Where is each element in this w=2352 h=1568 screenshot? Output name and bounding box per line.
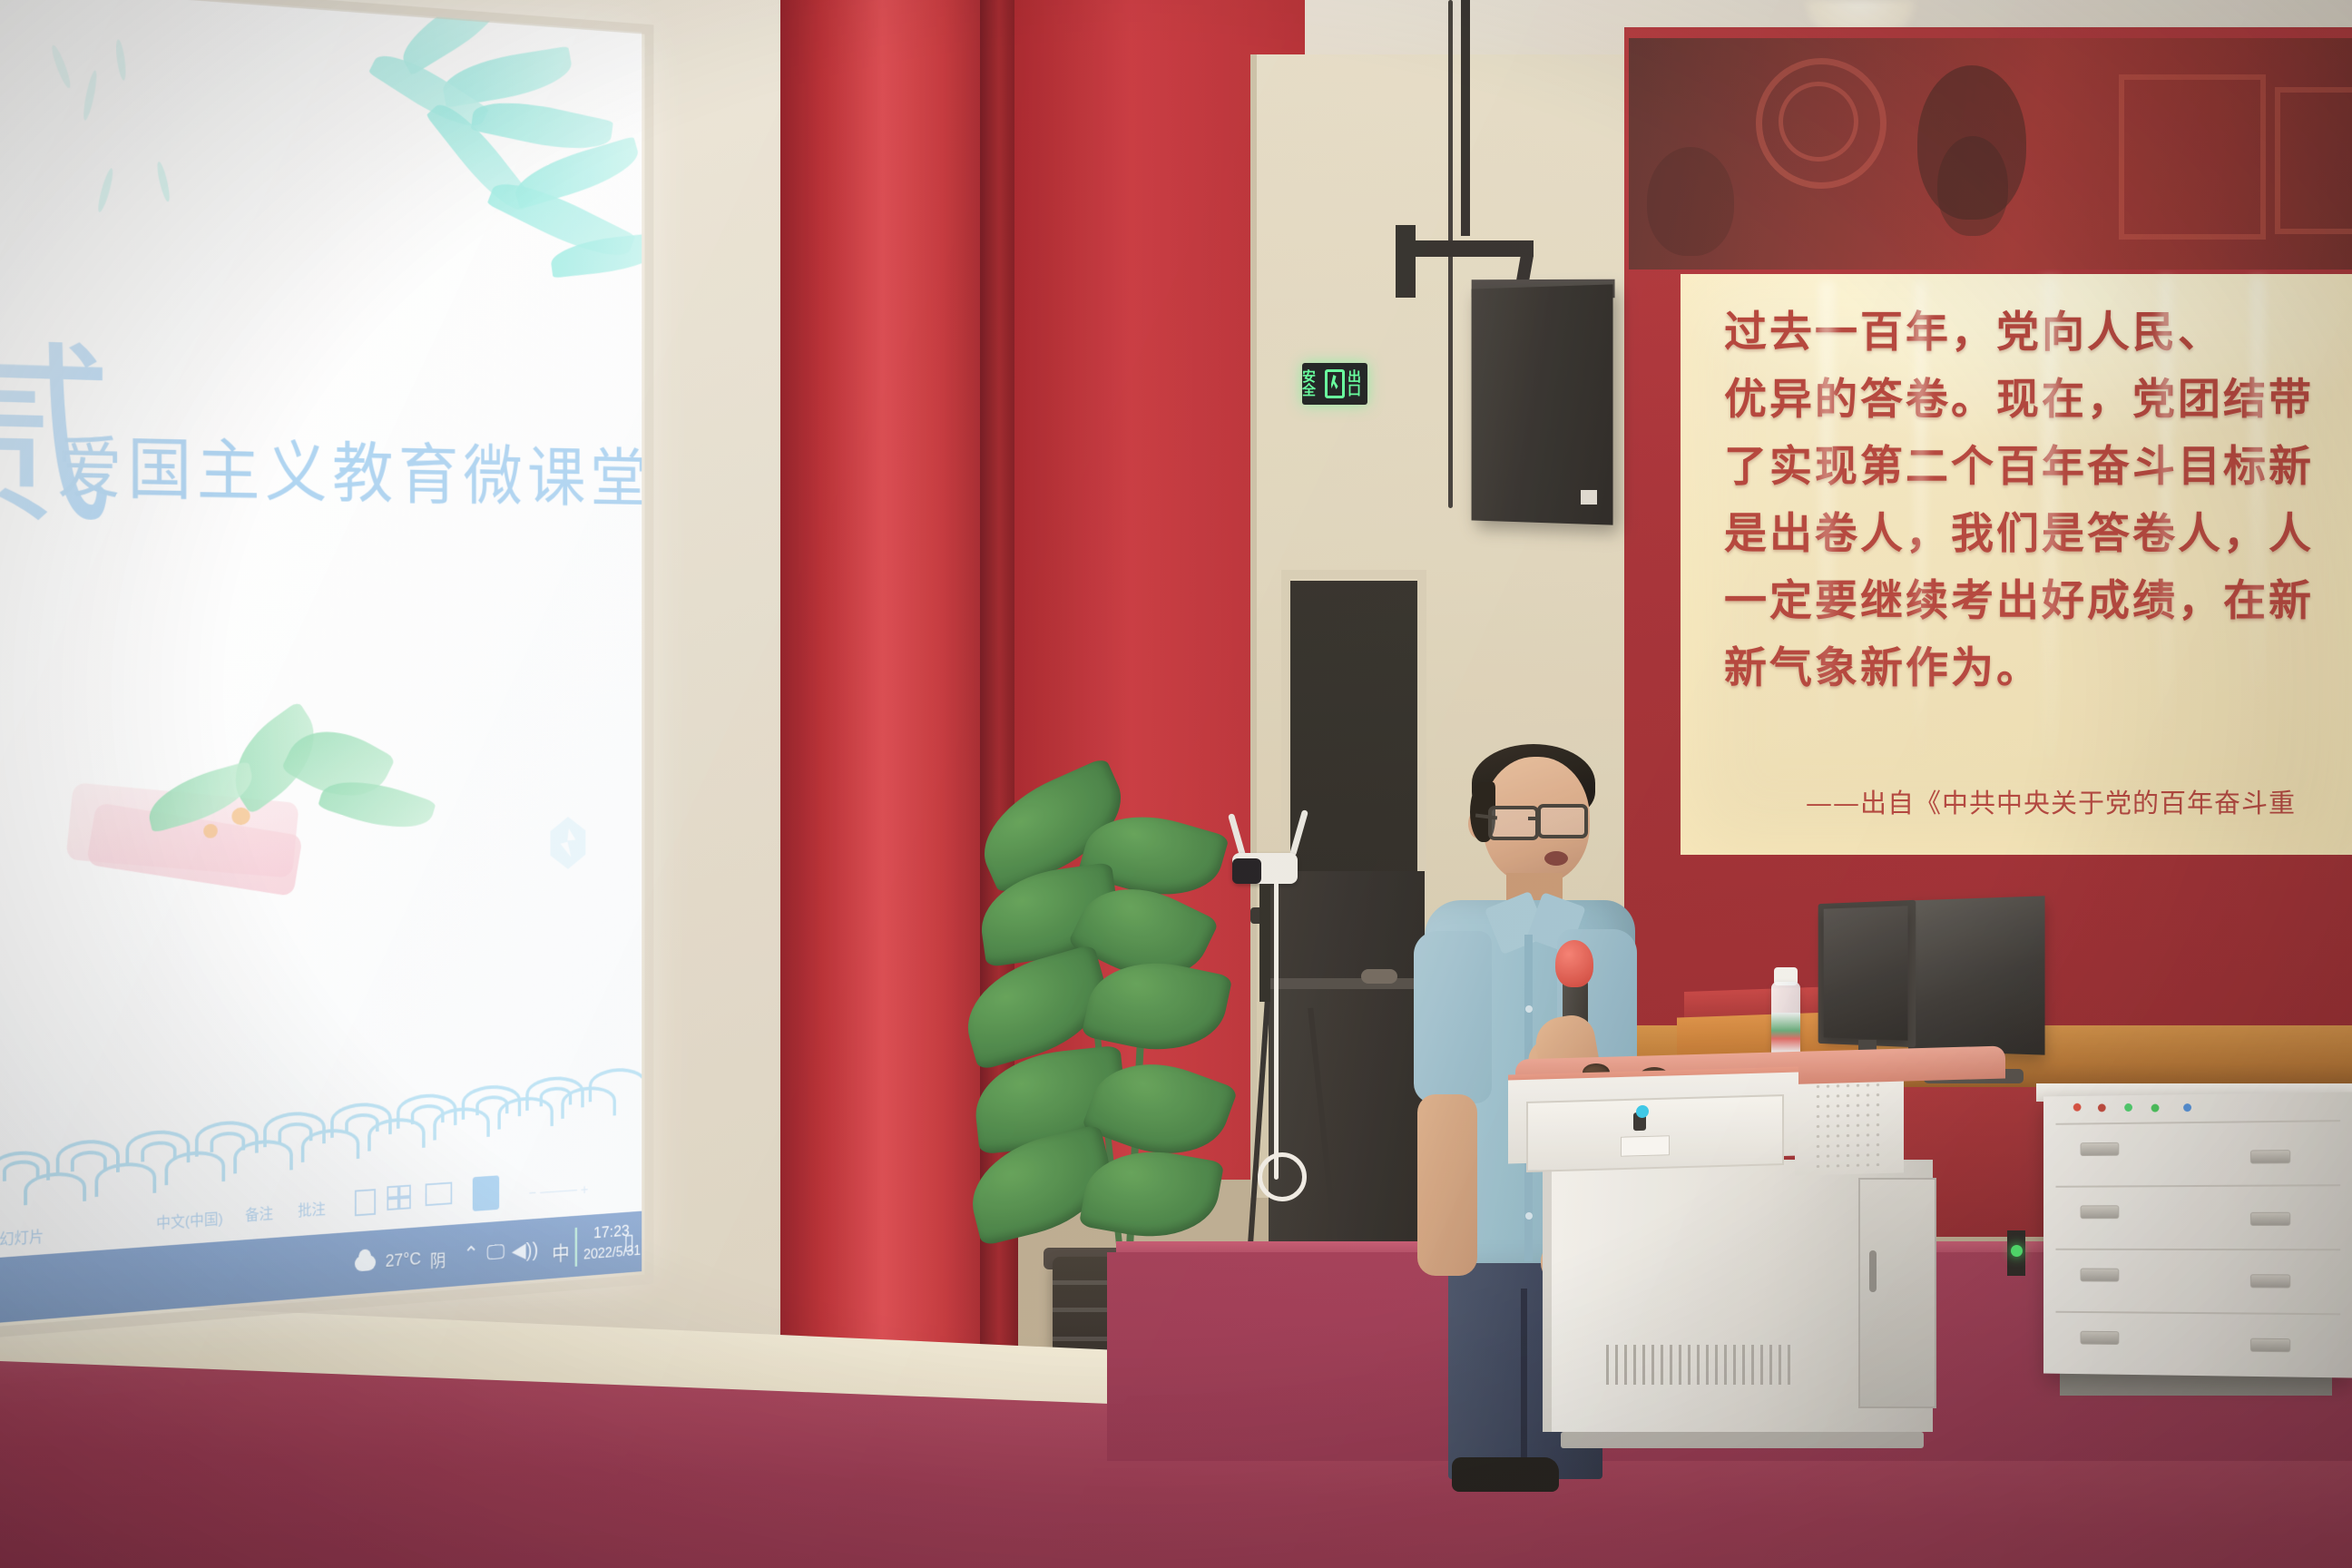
left-sleeve xyxy=(1414,931,1492,1103)
speaker-bracket-arm xyxy=(1397,240,1534,257)
cabinet-led-blue xyxy=(2183,1103,2191,1112)
cabinet-led-green xyxy=(2151,1104,2160,1112)
projection-screen-area: 贰 爱国主义教育微课堂 xyxy=(0,0,657,1343)
historical-mural xyxy=(1629,38,2352,269)
cabinet-led-green xyxy=(2124,1103,2132,1112)
cabinet-drawer[interactable] xyxy=(2055,1249,2340,1316)
drawer-handle[interactable] xyxy=(2250,1212,2290,1226)
eyeglasses-bridge xyxy=(1528,817,1541,820)
drawer-handle[interactable] xyxy=(2081,1331,2120,1345)
drawer-handle[interactable] xyxy=(2081,1142,2120,1156)
cabinet-led-red xyxy=(2073,1103,2082,1112)
mouth xyxy=(1544,851,1568,866)
eyeglasses-left-lens xyxy=(1488,806,1539,840)
podium-vent-grille xyxy=(1606,1345,1797,1385)
podium-drawer[interactable] xyxy=(1526,1094,1784,1172)
podium-base-plinth xyxy=(1561,1432,1924,1448)
microphone-head[interactable] xyxy=(1555,940,1593,987)
exit-sign-left-text: 安全 xyxy=(1302,370,1322,397)
camera-lens-icon xyxy=(1232,858,1261,884)
light-streak xyxy=(1915,281,1926,771)
wide-monitor[interactable] xyxy=(1908,896,2044,1054)
cabinet-led-red xyxy=(2098,1103,2106,1112)
center-wall-edge xyxy=(1250,54,1257,1198)
speaker-conduit-pipe xyxy=(1461,0,1470,236)
camera-power-wire xyxy=(1274,880,1279,1180)
eyeglasses-right-lens xyxy=(1537,804,1588,838)
emergency-exit-sign: 安全 出口 xyxy=(1302,363,1367,405)
podium-speaker-grille xyxy=(1813,1070,1886,1168)
amplifier-knob[interactable] xyxy=(1361,969,1397,984)
camera-wire-coil xyxy=(1258,1152,1307,1201)
light-streak xyxy=(2042,278,2058,786)
podium-label-plate xyxy=(1621,1135,1670,1157)
podium-monitor[interactable] xyxy=(1824,906,1908,1040)
exit-sign-right-text: 出口 xyxy=(1347,370,1367,397)
shirt-button xyxy=(1525,1005,1533,1013)
left-forearm xyxy=(1417,1094,1477,1276)
projection-screen-frame xyxy=(0,0,653,1340)
light-streak xyxy=(2250,278,2265,713)
wall-quote-source: ——出自《中共中央关于党的百年奋斗重 xyxy=(1806,782,2352,820)
shoe xyxy=(1452,1457,1559,1492)
light-streak xyxy=(1819,281,1834,753)
podium-equipment-door[interactable] xyxy=(1858,1178,1936,1408)
drawer-handle[interactable] xyxy=(2250,1274,2290,1288)
drawer-handle[interactable] xyxy=(2250,1338,2290,1353)
speaker-wall-plate xyxy=(1396,225,1416,298)
podium-door-handle[interactable] xyxy=(1869,1250,1877,1292)
green-status-led xyxy=(2011,1245,2023,1257)
lecture-hall-scene: 过去一百年，党向人民、 优异的答卷。现在，党团结带 了实现第二个百年奋斗目标新 … xyxy=(0,0,2352,1568)
light-streak xyxy=(2160,278,2172,750)
wall-mounted-pa-speaker xyxy=(1472,284,1613,524)
bottle-label xyxy=(1771,1013,1800,1053)
red-pillar-primary xyxy=(780,0,1007,1388)
camera-tripod-pole xyxy=(1259,884,1270,1002)
trouser-seam xyxy=(1521,1289,1527,1479)
drawer-handle[interactable] xyxy=(2081,1269,2120,1282)
speaker-brand-badge xyxy=(1581,490,1597,505)
white-drawer-cabinet[interactable] xyxy=(2043,1092,2352,1377)
drawer-handle[interactable] xyxy=(2081,1205,2120,1219)
drawer-handle[interactable] xyxy=(2250,1150,2290,1163)
running-person-exit-icon xyxy=(1325,369,1345,398)
shirt-button xyxy=(1525,1212,1533,1220)
